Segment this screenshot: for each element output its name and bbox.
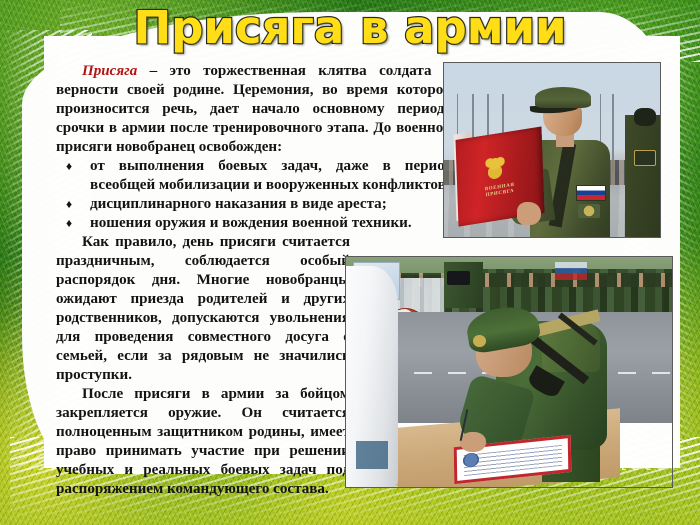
second-soldier-patch xyxy=(634,150,655,166)
exemptions-list: ♦от выполнения боевых задач, даже в пери… xyxy=(56,157,452,233)
list-item-label: ношения оружия и вождения военной техник… xyxy=(90,215,412,231)
photographer-figure xyxy=(444,262,483,308)
soldier-hand xyxy=(517,202,541,225)
camera-icon xyxy=(447,271,470,285)
list-item-label: дисциплинарного наказания в виде ареста; xyxy=(90,196,387,212)
bullet-icon: ♦ xyxy=(66,195,72,214)
list-item: ♦ношения оружия и вождения военной техни… xyxy=(56,214,452,233)
photo-soldier-reading-oath: ВОЕННАЯ ПРИСЯГА xyxy=(443,62,661,238)
second-soldier-body xyxy=(625,115,661,237)
unit-emblem-patch-icon xyxy=(578,204,600,218)
list-item: ♦от выполнения боевых задач, даже в пери… xyxy=(56,157,452,195)
bullet-icon: ♦ xyxy=(66,157,72,176)
second-soldier-head xyxy=(634,108,656,125)
paragraph-holiday: Как правило, день присяги считается праз… xyxy=(56,233,350,385)
paragraph-definition: Присяга – это торжественная клятва солда… xyxy=(56,62,452,157)
list-item-label: от выполнения боевых задач, даже в перио… xyxy=(90,158,452,193)
russian-coat-of-arms-icon xyxy=(481,152,509,182)
list-item: ♦дисциплинарного наказания в виде ареста… xyxy=(56,195,452,214)
photo-soldier-signing-oath xyxy=(345,256,673,488)
slide-root: Присяга в армии ВОЕННАЯ ПРИСЯГА xyxy=(0,0,700,525)
slide-title: Присяга в армии xyxy=(0,0,700,56)
bullet-icon: ♦ xyxy=(66,214,72,233)
foreground-figure-collar xyxy=(356,441,389,469)
paragraph-after-oath: После присяги в армии за бойцом закрепля… xyxy=(56,385,350,499)
russian-flag-patch-icon xyxy=(576,185,606,201)
cap-badge-icon xyxy=(473,335,486,347)
military-peaked-cap xyxy=(535,87,591,108)
soldier-hand xyxy=(460,432,486,453)
lead-term: Присяга xyxy=(82,63,137,79)
russian-flag-icon xyxy=(555,262,588,280)
